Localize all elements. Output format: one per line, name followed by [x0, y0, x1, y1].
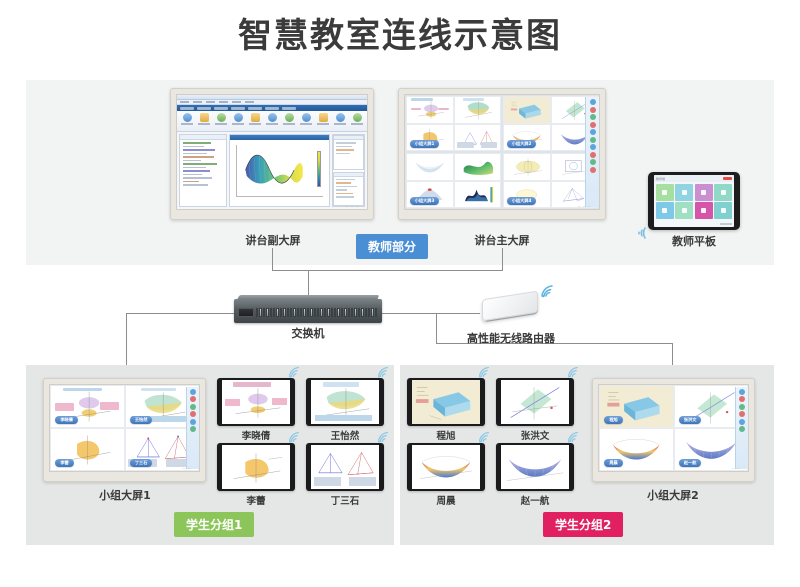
mosaic-tile-label: 小组大屏3 [410, 197, 440, 205]
group2-screen-grid: 程旭 张洪文 周晨 [599, 385, 748, 471]
wifi-signal-icon [478, 366, 491, 378]
monitor-brand: — — [732, 466, 740, 470]
group2-tile-label: 周晨 [604, 459, 622, 467]
tablet-app-tile[interactable] [714, 184, 732, 201]
mosaic-cell [406, 96, 454, 124]
group1-tile[interactable]: 李蕾 [50, 428, 125, 471]
tablet-app-tile[interactable] [675, 202, 693, 219]
mosaic-cell [454, 181, 502, 209]
group1-big-screen[interactable]: 李晓倩 王怡然 [43, 378, 206, 482]
ide-workspace-pane[interactable] [332, 134, 365, 207]
group1-side-toolbar[interactable] [186, 387, 199, 470]
badge-teacher-section: 教师部分 [356, 234, 428, 259]
wifi-signal-icon [567, 431, 580, 443]
tablet-app-grid[interactable] [654, 182, 734, 221]
mosaic-cell [454, 124, 502, 152]
diagram-canvas: 智慧教室连线示意图 [0, 0, 800, 587]
group1-tile-label: 王怡然 [130, 416, 153, 424]
wifi-signal-icon [288, 366, 301, 378]
network-switch[interactable] [234, 299, 382, 323]
label-teacher-tablet: 教师平板 [650, 233, 738, 249]
mosaic-cell: 小组大屏4 [503, 181, 551, 209]
monitor-brand: — — — [346, 204, 359, 208]
surface-plot [236, 145, 322, 198]
wifi-signal-icon [567, 366, 580, 378]
group-mosaic: 小组大屏1 [405, 95, 599, 209]
tablet-app-tile[interactable] [695, 202, 713, 219]
label-student-tablet: 李蕾 [216, 493, 296, 507]
tablet-app-title: 教师端 [656, 177, 665, 181]
connector-line [272, 270, 503, 271]
mosaic-tile-label: 小组大屏1 [410, 140, 440, 148]
label-student-tablet: 丁三石 [305, 493, 385, 507]
tablet-app-tile[interactable] [695, 184, 713, 201]
wifi-signal-icon [540, 284, 555, 298]
wifi-signal-icon [377, 366, 390, 378]
tablet-record-button[interactable] [723, 177, 732, 181]
student-tablet[interactable] [407, 443, 485, 491]
label-main-screen: 讲台主大屏 [442, 232, 562, 248]
label-group2-screen: 小组大屏2 [613, 487, 733, 503]
student-tablet[interactable] [217, 378, 295, 426]
student-tablet[interactable] [496, 378, 574, 426]
mosaic-cell: 小组大屏3 [406, 181, 454, 209]
mosaic-cell: 小组大屏1 [406, 124, 454, 152]
label-student-tablet: 程旭 [406, 428, 486, 442]
label-switch: 交换机 [248, 325, 368, 341]
page-title: 智慧教室连线示意图 [0, 8, 800, 57]
connector-line [502, 248, 503, 270]
student-tablet[interactable] [217, 443, 295, 491]
badge-student-group1: 学生分组1 [174, 512, 254, 537]
connector-line [272, 248, 273, 270]
group2-tile-label: 程旭 [604, 416, 622, 424]
wifi-signal-icon [478, 431, 491, 443]
group1-tile[interactable]: 李晓倩 [50, 385, 125, 428]
wifi-signal-icon [632, 226, 648, 240]
mosaic-tile-label: 小组大屏4 [507, 197, 537, 205]
wifi-signal-icon [377, 431, 390, 443]
monitor-brand: — — [183, 466, 191, 470]
mosaic-cell [454, 153, 502, 181]
student-tablet[interactable] [306, 443, 384, 491]
mosaic-quadrant-1[interactable]: 小组大屏1 [405, 95, 502, 152]
group2-big-screen[interactable]: 程旭 张洪文 周晨 [592, 378, 755, 482]
group1-tile-label: 丁三石 [130, 459, 153, 467]
group1-tile-label: 李晓倩 [55, 416, 78, 424]
mosaic-cell [503, 153, 551, 181]
lecture-main-screen[interactable]: 小组大屏1 [398, 88, 606, 220]
group2-side-toolbar[interactable] [735, 387, 748, 470]
group2-tile-label: 赵一航 [679, 459, 702, 467]
tablet-app-tile[interactable] [656, 202, 674, 219]
lecture-secondary-screen[interactable]: — — — [170, 88, 374, 220]
student-tablet[interactable] [407, 378, 485, 426]
mosaic-cell [406, 153, 454, 181]
mosaic-cell: 小组大屏2 [503, 124, 551, 152]
ide-editor-pane[interactable] [179, 134, 227, 207]
label-student-tablet: 赵一航 [495, 493, 575, 507]
group2-tile[interactable]: 程旭 [599, 385, 674, 428]
teacher-tablet[interactable]: 教师端 [648, 172, 740, 230]
group2-tile[interactable]: 周晨 [599, 428, 674, 471]
tablet-app-tile[interactable] [714, 202, 732, 219]
ide-figure-pane[interactable] [229, 134, 329, 207]
connector-line [382, 313, 480, 314]
group2-tile-label: 张洪文 [679, 416, 702, 424]
label-router: 高性能无线路由器 [451, 330, 571, 346]
mosaic-quadrant-3[interactable]: 小组大屏3 [405, 152, 502, 209]
badge-student-group2: 学生分组2 [543, 512, 623, 537]
mosaic-cell [503, 96, 551, 124]
student-tablet[interactable] [306, 378, 384, 426]
label-student-tablet: 王怡然 [305, 428, 385, 442]
label-student-tablet: 李晓倩 [216, 428, 296, 442]
ide-toolbar [177, 111, 367, 132]
tablet-app-tile[interactable] [675, 184, 693, 201]
group1-screen-grid: 李晓倩 王怡然 [50, 385, 199, 471]
wifi-signal-icon [288, 431, 301, 443]
label-student-tablet: 张洪文 [495, 428, 575, 442]
connector-line [436, 313, 437, 343]
label-secondary-screen: 讲台副大屏 [213, 232, 333, 248]
label-student-tablet: 周晨 [406, 493, 486, 507]
wireless-router[interactable] [480, 289, 542, 325]
label-group1-screen: 小组大屏1 [65, 487, 185, 503]
colorbar [317, 151, 320, 187]
connector-line [126, 313, 234, 314]
student-tablet[interactable] [496, 443, 574, 491]
mosaic-tile-label: 小组大屏2 [507, 140, 537, 148]
tablet-app-tile[interactable] [656, 184, 674, 201]
mosaic-cell [454, 96, 502, 124]
ide-window [177, 95, 367, 209]
screen-side-toolbar[interactable] [585, 97, 599, 206]
monitor-brand: — — — [578, 204, 591, 208]
group1-tile-label: 李蕾 [55, 459, 73, 467]
